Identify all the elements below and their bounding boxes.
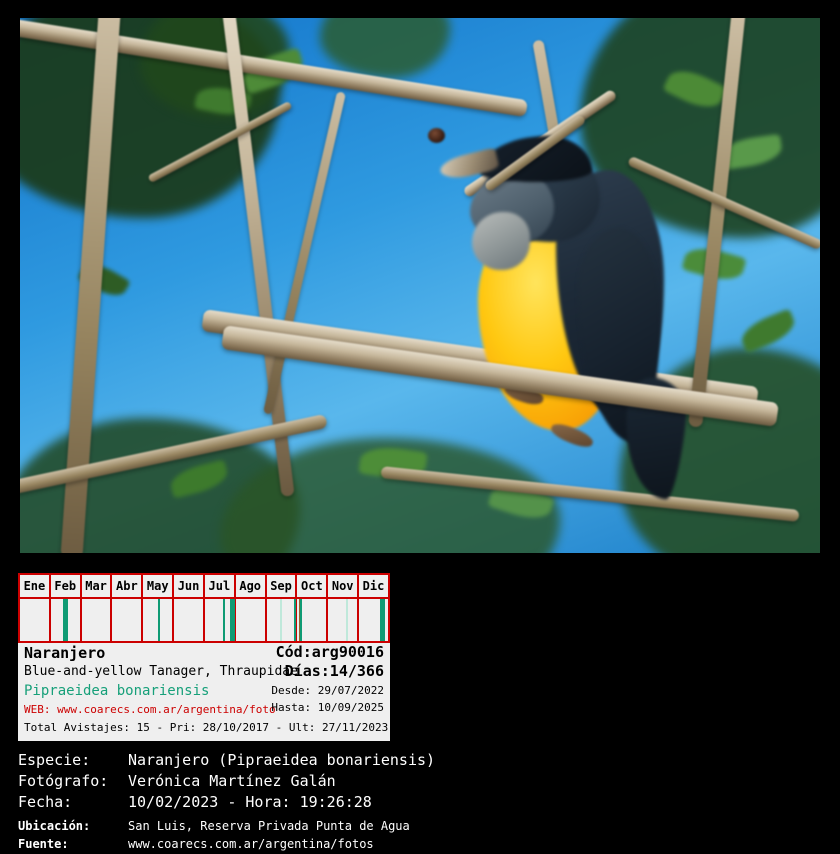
detail-row-fecha: Fecha: 10/02/2023 - Hora: 19:26:28 (18, 792, 818, 813)
species-total-sightings: Total Avistajes: 15 - Pri: 28/10/2017 - … (24, 721, 388, 734)
sighting-bar (63, 599, 68, 641)
species-code: Cód:arg90016 (276, 643, 384, 661)
detail-row-ubicacion: Ubicación: San Luis, Reserva Privada Pun… (18, 817, 818, 835)
calendar-sighting-grid (18, 599, 390, 643)
ubicacion-label: Ubicación: (18, 817, 128, 835)
calendar-month-header: Ene Feb Mar Abr May Jun Jul Ago Sep Oct … (18, 573, 390, 599)
calendar-cell-sep (267, 599, 298, 641)
calendar-cell-mar (82, 599, 113, 641)
fotografo-label: Fotógrafo: (18, 771, 128, 792)
species-date-to: Hasta: 10/09/2025 (271, 701, 384, 714)
calendar-cell-oct (297, 599, 328, 641)
sighting-bar (300, 599, 302, 641)
species-days: Días:14/366 (285, 662, 384, 680)
species-common-name: Naranjero (24, 644, 105, 662)
bird-throat (472, 212, 530, 270)
sighting-bar (230, 599, 235, 641)
bird-eye (428, 128, 445, 143)
calendar-cell-jun (174, 599, 205, 641)
sighting-bar (380, 599, 385, 641)
sighting-bar (223, 599, 225, 641)
month-label-abr: Abr (112, 575, 143, 597)
especie-label: Especie: (18, 750, 128, 771)
ubicacion-value: San Luis, Reserva Privada Punta de Agua (128, 817, 410, 835)
calendar-cell-jul (205, 599, 236, 641)
bird-photograph (20, 18, 820, 553)
detail-row-fotografo: Fotógrafo: Verónica Martínez Galán (18, 771, 818, 792)
calendar-cell-may (143, 599, 174, 641)
species-date-from: Desde: 29/07/2022 (271, 684, 384, 697)
month-label-dic: Dic (359, 575, 390, 597)
calendar-cell-nov (328, 599, 359, 641)
especie-value: Naranjero (Pipraeidea bonariensis) (128, 750, 435, 771)
month-label-nov: Nov (328, 575, 359, 597)
fuente-label: Fuente: (18, 835, 128, 853)
sighting-bar (280, 599, 282, 641)
fecha-value: 10/02/2023 - Hora: 19:26:28 (128, 792, 372, 813)
photo-details-panel: Especie: Naranjero (Pipraeidea bonariens… (18, 750, 818, 853)
month-label-feb: Feb (51, 575, 82, 597)
month-label-jun: Jun (174, 575, 205, 597)
species-english-name: Blue-and-yellow Tanager, Thraupidae (24, 664, 298, 679)
detail-row-fuente: Fuente: www.coarecs.com.ar/argentina/fot… (18, 835, 818, 853)
calendar-cell-ene (18, 599, 51, 641)
calendar-cell-ago (236, 599, 267, 641)
month-label-sep: Sep (267, 575, 298, 597)
sighting-bar (158, 599, 160, 641)
species-web-link[interactable]: WEB: www.coarecs.com.ar/argentina/foto (24, 703, 276, 716)
sighting-calendar-card: Ene Feb Mar Abr May Jun Jul Ago Sep Oct … (18, 573, 390, 741)
month-label-jul: Jul (205, 575, 236, 597)
detail-row-especie: Especie: Naranjero (Pipraeidea bonariens… (18, 750, 818, 771)
fecha-label: Fecha: (18, 792, 128, 813)
month-label-ene: Ene (18, 575, 51, 597)
sighting-bar (346, 599, 348, 641)
fotografo-value: Verónica Martínez Galán (128, 771, 336, 792)
species-info-block: Naranjero Blue-and-yellow Tanager, Thrau… (18, 643, 390, 737)
sighting-bar (294, 599, 296, 641)
calendar-cell-abr (112, 599, 143, 641)
month-label-may: May (143, 575, 174, 597)
month-label-mar: Mar (82, 575, 113, 597)
month-label-oct: Oct (297, 575, 328, 597)
fuente-value[interactable]: www.coarecs.com.ar/argentina/fotos (128, 835, 374, 853)
calendar-cell-feb (51, 599, 82, 641)
calendar-cell-dic (359, 599, 390, 641)
month-label-ago: Ago (236, 575, 267, 597)
species-latin-name: Pipraeidea bonariensis (24, 683, 209, 699)
